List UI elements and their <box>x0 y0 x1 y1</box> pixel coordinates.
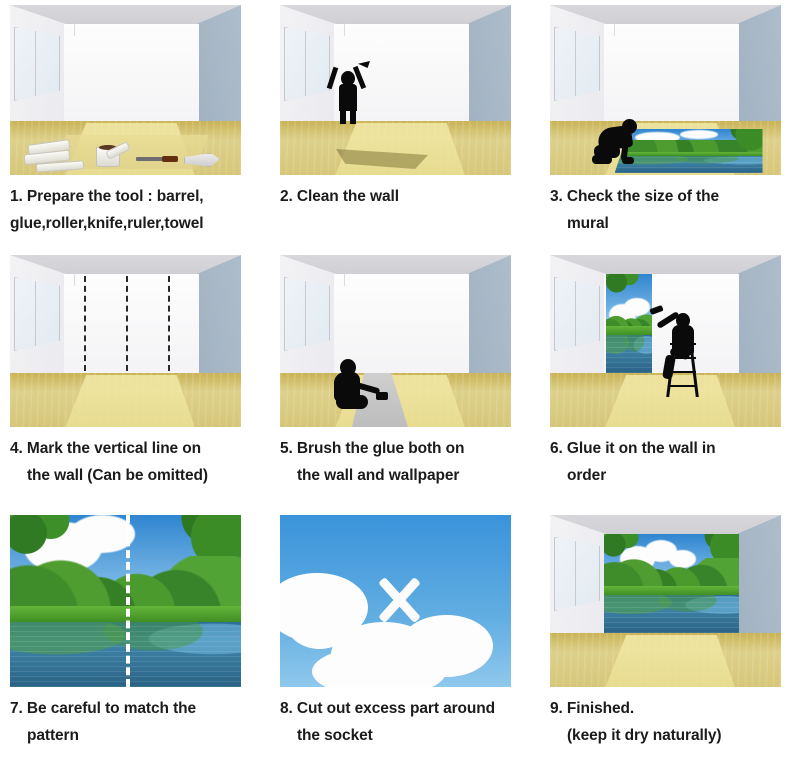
step-1-line-1: 1. Prepare the tool : barrel, <box>10 188 204 205</box>
vertical-mark-line <box>84 276 86 371</box>
step-8-line-1: 8. Cut out excess part around <box>280 700 495 717</box>
step-8-caption: 8. Cut out excess part around the socket <box>280 695 524 749</box>
room-illustration <box>280 255 511 427</box>
step-7-line-2: pattern <box>10 722 254 749</box>
step-4-line-2: the wall (Can be omitted) <box>10 462 254 489</box>
step-1-image <box>10 5 241 175</box>
floor <box>550 633 781 687</box>
step-panel-3: 3. Check the size of the mural <box>540 0 800 250</box>
back-wall <box>64 24 199 123</box>
step-panel-2: 2. Clean the wall <box>270 0 540 250</box>
window <box>14 277 60 351</box>
step-2-line-1: 2. Clean the wall <box>280 188 399 205</box>
left-arm <box>327 67 339 89</box>
step-3-line-1: 3. Check the size of the <box>550 188 719 205</box>
vertical-mark-line <box>126 276 128 371</box>
step-panel-9: 9. Finished. (keep it dry naturally) <box>540 510 800 778</box>
step-9-line-1: 9. Finished. <box>550 700 634 717</box>
step-6-line-1: 6. Glue it on the wall in <box>550 440 715 457</box>
step-4-image <box>10 255 241 427</box>
ladder-rung <box>670 385 696 387</box>
pattern-match-seam-line <box>126 515 130 687</box>
step-panel-6: 6. Glue it on the wall in order <box>540 250 800 510</box>
step-6-caption: 6. Glue it on the wall in order <box>550 435 794 489</box>
step-7-caption: 7. Be careful to match the pattern <box>10 695 254 749</box>
room-illustration <box>280 5 511 175</box>
step-6-line-2: order <box>550 462 794 489</box>
sunlight-patch <box>605 635 734 687</box>
room-illustration <box>550 5 781 175</box>
legs <box>336 395 368 409</box>
person-cleaning-wall-silhouette <box>328 61 368 123</box>
window <box>554 537 600 611</box>
step-6-image <box>550 255 781 427</box>
step-3-line-2: mural <box>550 210 794 237</box>
finished-mural-on-wall <box>604 534 739 633</box>
step-9-line-2: (keep it dry naturally) <box>550 722 794 749</box>
window <box>554 277 600 351</box>
step-5-line-2: the wall and wallpaper <box>280 462 524 489</box>
step-1-caption: 1. Prepare the tool : barrel, glue,rolle… <box>10 183 254 237</box>
step-7-line-1: 7. Be careful to match the <box>10 700 196 717</box>
torso <box>339 84 357 111</box>
knife <box>136 157 164 161</box>
window <box>14 27 60 101</box>
room-illustration <box>10 255 241 427</box>
mural-right-canopy <box>706 129 762 154</box>
mural-grass-bank <box>604 586 739 595</box>
sunlight-patch <box>65 375 194 427</box>
step-panel-4: 4. Mark the vertical line on the wall (C… <box>0 250 270 510</box>
window <box>284 277 330 351</box>
person-brushing-glue-silhouette <box>332 359 394 415</box>
shin <box>592 155 612 164</box>
ladder-rung <box>670 371 696 373</box>
step-2-caption: 2. Clean the wall <box>280 183 524 210</box>
window <box>554 27 600 101</box>
mural-water <box>606 335 652 373</box>
glue-brush <box>376 392 388 400</box>
step-9-caption: 9. Finished. (keep it dry naturally) <box>550 695 794 749</box>
left-leg <box>340 108 346 124</box>
step-4-line-1: 4. Mark the vertical line on <box>10 440 201 457</box>
floor <box>10 373 241 427</box>
step-panel-1: 1. Prepare the tool : barrel, glue,rolle… <box>0 0 270 250</box>
head <box>340 359 356 376</box>
step-panel-5: 5. Brush the glue both on the wall and w… <box>270 250 540 510</box>
installation-steps-grid: 1. Prepare the tool : barrel, glue,rolle… <box>0 0 800 778</box>
step-8-line-2: the socket <box>280 722 524 749</box>
mural-grass-bank <box>606 326 652 335</box>
step-1-line-2: glue,roller,knife,ruler,towel <box>10 210 254 237</box>
step-3-caption: 3. Check the size of the mural <box>550 183 794 237</box>
mural-water <box>604 595 739 633</box>
person-on-ladder-silhouette <box>654 305 716 397</box>
right-leg <box>350 108 356 124</box>
step-5-caption: 5. Brush the glue both on the wall and w… <box>280 435 524 489</box>
x-cut-mark-icon <box>372 573 426 627</box>
step-5-line-1: 5. Brush the glue both on <box>280 440 464 457</box>
person-measuring-mural-silhouette <box>592 119 652 171</box>
room-illustration <box>10 5 241 175</box>
step-5-image <box>280 255 511 427</box>
vertical-mark-line <box>168 276 170 371</box>
step-4-caption: 4. Mark the vertical line on the wall (C… <box>10 435 254 489</box>
mural-pattern-match-photo <box>10 515 241 687</box>
mural-strip-on-wall <box>606 274 652 373</box>
sky-photo <box>280 515 511 687</box>
step-panel-8: 8. Cut out excess part around the socket <box>270 510 540 778</box>
room-illustration <box>550 255 781 427</box>
step-2-image <box>280 5 511 175</box>
step-panel-7: 7. Be careful to match the pattern <box>0 510 270 778</box>
step-7-image <box>10 515 241 687</box>
step-8-image <box>280 515 511 687</box>
room-illustration <box>550 515 781 687</box>
back-wall <box>604 24 739 123</box>
mural-top-canopy <box>606 274 646 300</box>
hand-with-tape-measure <box>622 157 634 164</box>
step-3-image <box>550 5 781 175</box>
step-9-image <box>550 515 781 687</box>
window <box>284 27 330 101</box>
head <box>622 119 637 134</box>
